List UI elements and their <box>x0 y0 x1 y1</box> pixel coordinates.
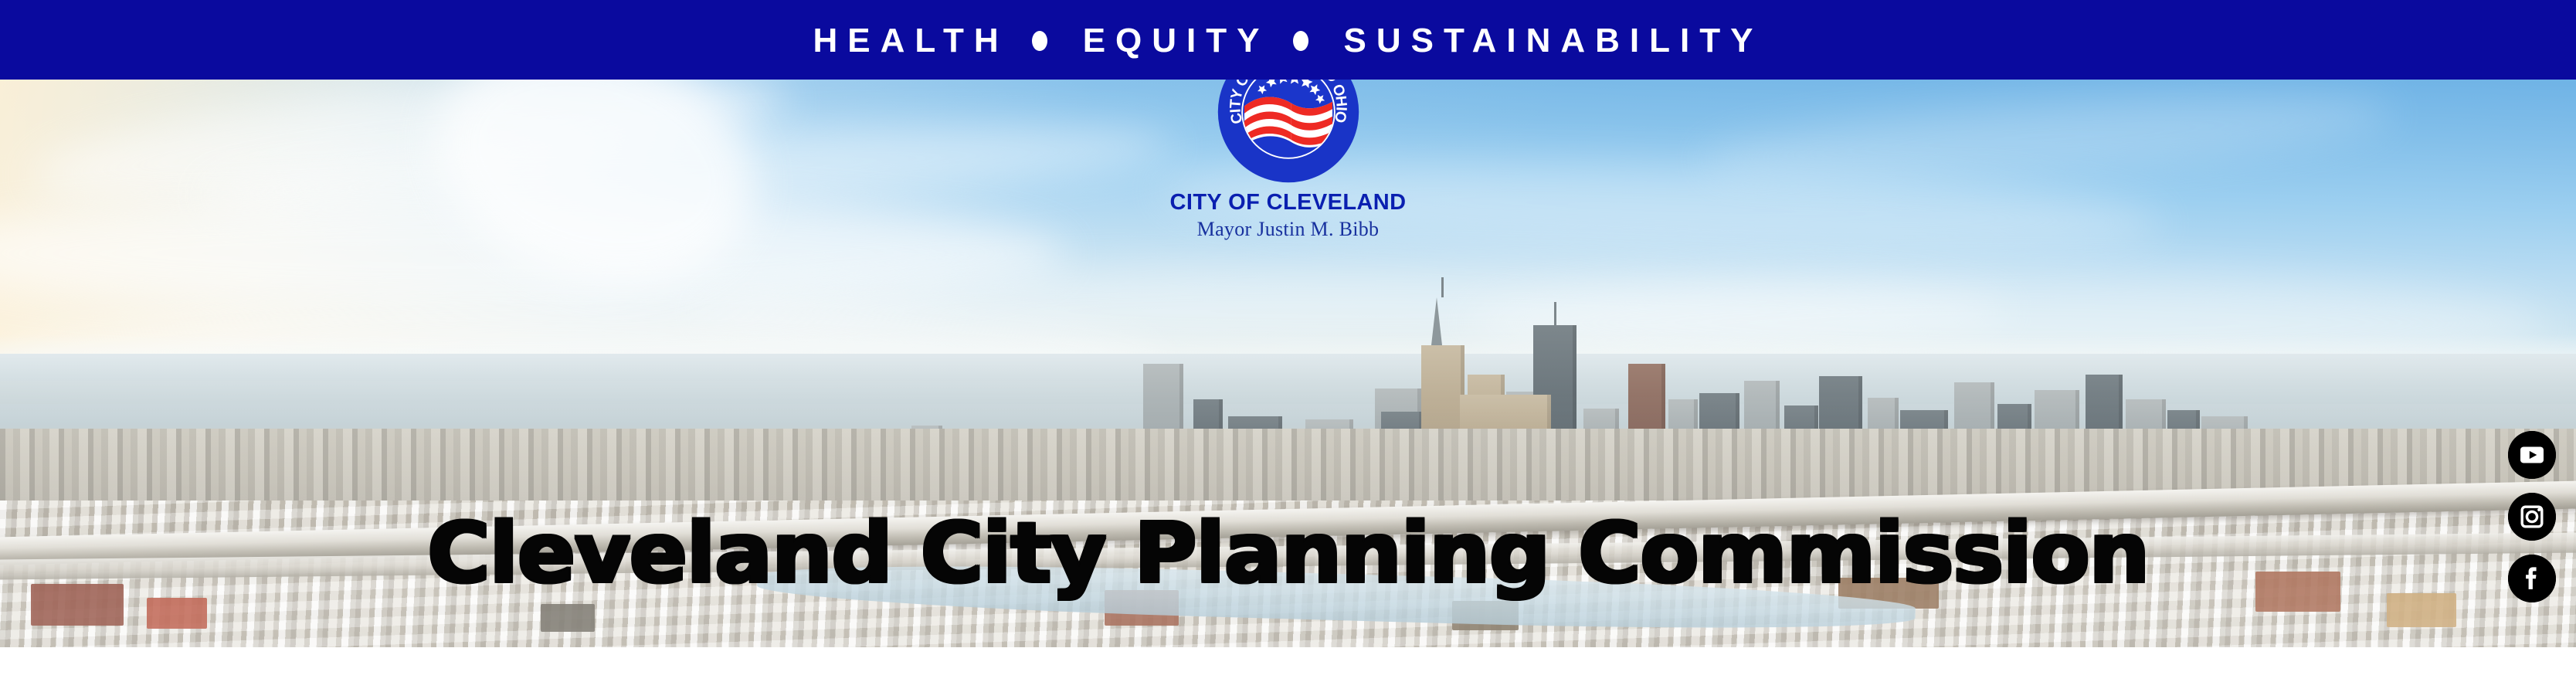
logo-title: CITY OF CLEVELAND <box>1088 191 1489 215</box>
instagram-glyph <box>2508 493 2556 541</box>
social-links-rail <box>2508 431 2556 602</box>
tagline-banner: HEALTH EQUITY SUSTAINABILITY <box>0 0 2576 80</box>
youtube-glyph <box>2508 431 2556 479</box>
page-title: Cleveland City Planning Commission <box>0 513 2576 595</box>
facebook-glyph <box>2508 555 2556 602</box>
youtube-icon[interactable] <box>2508 431 2556 479</box>
bottom-white-strip <box>0 647 2576 682</box>
tagline-separator-dot-2 <box>1293 31 1308 51</box>
instagram-icon[interactable] <box>2508 493 2556 541</box>
tagline-inner: HEALTH EQUITY SUSTAINABILITY <box>813 24 1763 58</box>
logo-subtitle-mayor: Mayor Justin M. Bibb <box>1088 219 1489 241</box>
page-root: HEALTH EQUITY SUSTAINABILITY <box>0 0 2576 682</box>
facebook-icon[interactable] <box>2508 555 2556 602</box>
tagline-separator-dot-1 <box>1032 31 1047 51</box>
tagline-word-equity: EQUITY <box>1083 24 1270 58</box>
tagline-word-health: HEALTH <box>813 24 1009 58</box>
tagline-word-sustainability: SUSTAINABILITY <box>1344 24 1763 58</box>
